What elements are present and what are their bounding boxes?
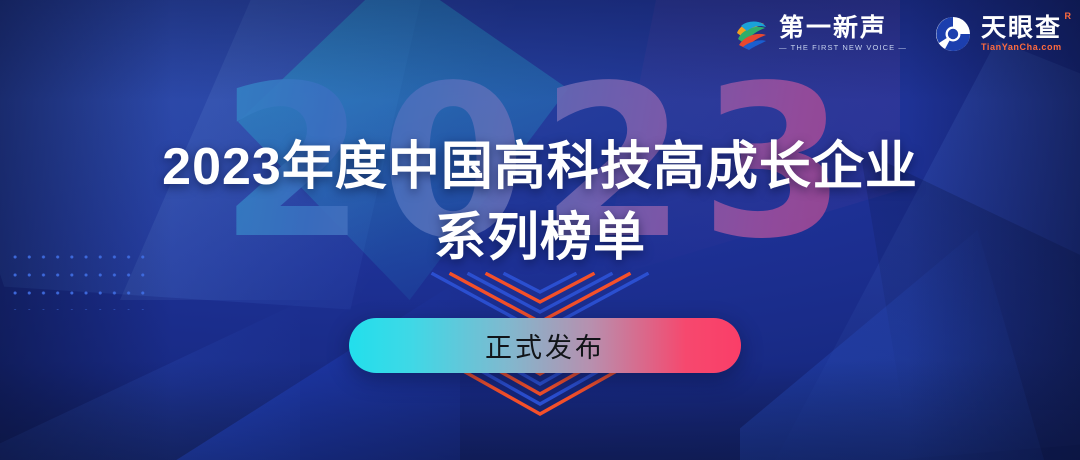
headline-line-1: 2023年度中国高科技高成长企业	[162, 138, 918, 196]
release-status-label: 正式发布	[485, 326, 605, 365]
tianyancha-logo-icon	[933, 14, 973, 54]
tianyancha-tagline: TianYanCha.com	[981, 42, 1062, 53]
logo-first-new-voice: 第一新声 — THE FIRST NEW VOICE —	[731, 14, 907, 54]
tianyancha-name: 天眼查	[981, 15, 1062, 42]
first-new-voice-logo-text: 第一新声 — THE FIRST NEW VOICE —	[779, 15, 907, 53]
logo-tianyancha: R 天眼查 TianYanCha.com	[933, 14, 1062, 54]
logo-bar: 第一新声 — THE FIRST NEW VOICE — R 天眼查 TianY…	[731, 14, 1062, 54]
registered-trademark-icon: R	[1065, 11, 1072, 21]
page-title: 2023年度中国高科技高成长企业 系列榜单	[0, 132, 1080, 273]
promotional-banner: 2023 2023年度中国高科技高成长企业 系列榜单 正式发布	[0, 0, 1080, 460]
tianyancha-logo-text: R 天眼查 TianYanCha.com	[981, 15, 1062, 53]
first-new-voice-tagline: — THE FIRST NEW VOICE —	[779, 43, 907, 53]
first-new-voice-logo-icon	[731, 14, 771, 54]
first-new-voice-name: 第一新声	[779, 15, 907, 42]
release-status-badge: 正式发布	[349, 318, 741, 373]
headline-line-2: 系列榜单	[0, 203, 1080, 274]
